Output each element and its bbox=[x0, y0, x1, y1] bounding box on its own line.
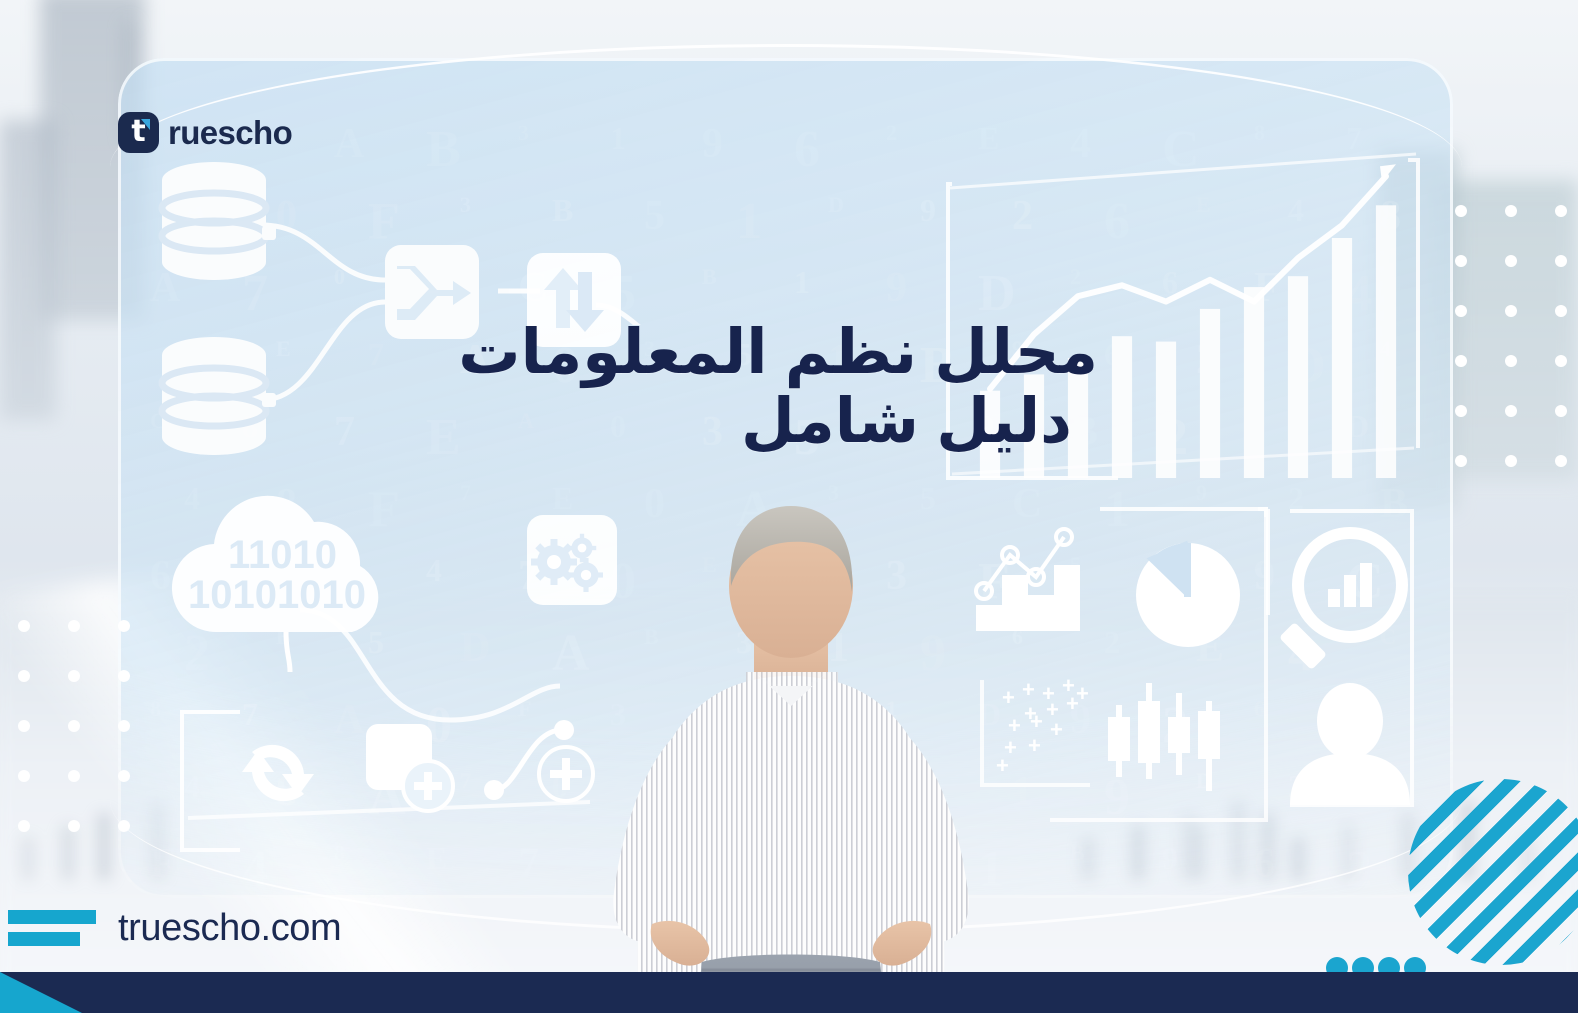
poster-canvas: 5DAB31962E4C87A0F3B51D926E48A703C5B19D26… bbox=[0, 0, 1578, 1013]
footer-url[interactable]: truescho.com bbox=[118, 907, 341, 950]
database-icon bbox=[162, 162, 276, 280]
logo-mark-letter: t bbox=[118, 112, 159, 153]
user-avatar-icon bbox=[1290, 683, 1410, 805]
database-icon bbox=[162, 337, 276, 455]
footer-bars-icon bbox=[8, 910, 96, 946]
add-square-icon bbox=[366, 724, 453, 811]
magnifier-chart-icon bbox=[1279, 533, 1402, 670]
svg-text:+: + bbox=[1050, 717, 1063, 742]
brand-logo[interactable]: t ruescho bbox=[118, 112, 292, 153]
sync-arrows-icon bbox=[227, 728, 315, 801]
page-title: محلل نظم المعلومات دليل شامل bbox=[438, 318, 1098, 457]
candlestick-chart-icon bbox=[1108, 683, 1220, 791]
footer: truescho.com bbox=[0, 884, 1578, 972]
footer-wedge-accent bbox=[0, 972, 120, 1013]
svg-text:+: + bbox=[1028, 733, 1041, 758]
svg-text:+: + bbox=[1066, 691, 1079, 716]
logo-wordmark: ruescho bbox=[168, 114, 292, 152]
headline-line-1: محلل نظم المعلومات bbox=[438, 318, 1098, 387]
headline-line-2: دليل شامل bbox=[438, 387, 1098, 456]
svg-text:+: + bbox=[1030, 709, 1043, 734]
process-icons-panel bbox=[170, 700, 610, 880]
footer-bar bbox=[0, 972, 1578, 1013]
pie-chart-icon bbox=[1091, 543, 1240, 671]
logo-mark-icon: t bbox=[118, 112, 159, 153]
cloud-binary-line1: 11010 bbox=[228, 533, 337, 577]
